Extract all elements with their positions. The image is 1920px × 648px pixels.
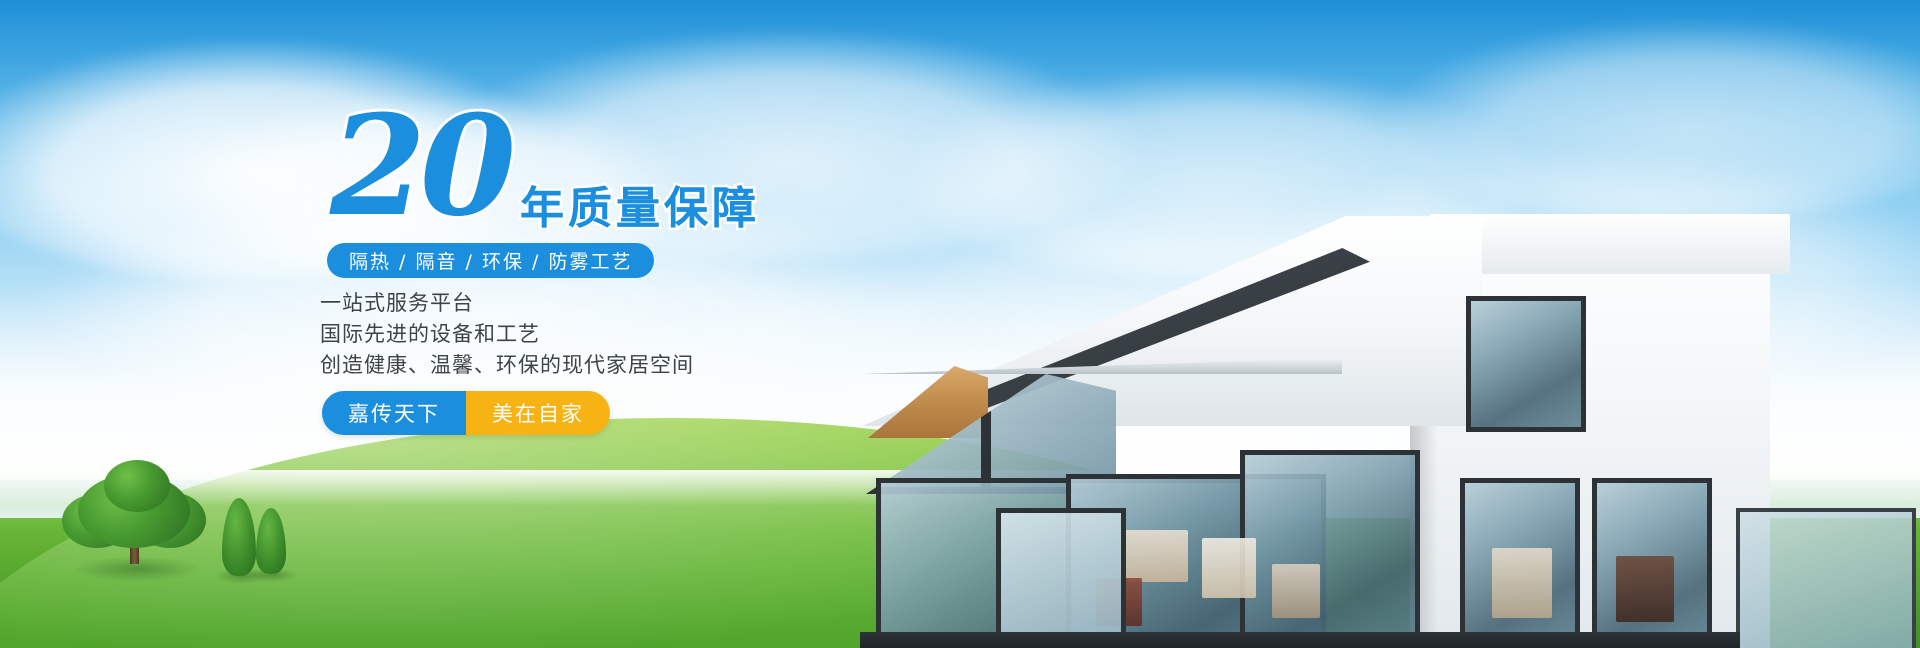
roof-fascia-right — [1430, 214, 1790, 274]
description-line-2: 国际先进的设备和工艺 — [320, 319, 694, 350]
cta-primary-button[interactable]: 嘉传天下 — [322, 391, 466, 435]
years-number-badge: 20 20 — [330, 106, 540, 226]
page-title: 年质量保障 — [520, 172, 760, 236]
interior-furnishing — [1272, 564, 1320, 618]
description-line-3: 创造健康、温馨、环保的现代家居空间 — [320, 350, 694, 381]
window-panel-corner — [1240, 450, 1420, 648]
years-number-fill: 20 — [330, 106, 510, 226]
promo-copy-block: 20 20 年质量保障 年质量保障 隔热 / 隔音 / 环保 / 防雾工艺 一站… — [0, 0, 760, 648]
cta-secondary-button[interactable]: 美在自家 — [466, 391, 610, 435]
interior-furnishing — [1616, 556, 1674, 622]
window-far-right — [1736, 508, 1916, 648]
cta-group: 嘉传天下 美在自家 — [322, 391, 610, 435]
interior-furnishing — [1492, 548, 1552, 618]
features-pill: 隔热 / 隔音 / 环保 / 防雾工艺 — [327, 243, 654, 278]
upper-gable-window — [1466, 296, 1586, 432]
interior-furnishing — [1202, 538, 1256, 598]
glass-sunroom-building — [820, 178, 1920, 648]
description-lines: 一站式服务平台 国际先进的设备和工艺 创造健康、温馨、环保的现代家居空间 — [320, 288, 694, 381]
glass-door — [996, 508, 1126, 648]
promo-banner: 20 20 年质量保障 年质量保障 隔热 / 隔音 / 环保 / 防雾工艺 一站… — [0, 0, 1920, 648]
building-base-trim — [860, 632, 1740, 648]
interior-furnishing — [1120, 530, 1188, 582]
description-line-1: 一站式服务平台 — [320, 288, 694, 319]
